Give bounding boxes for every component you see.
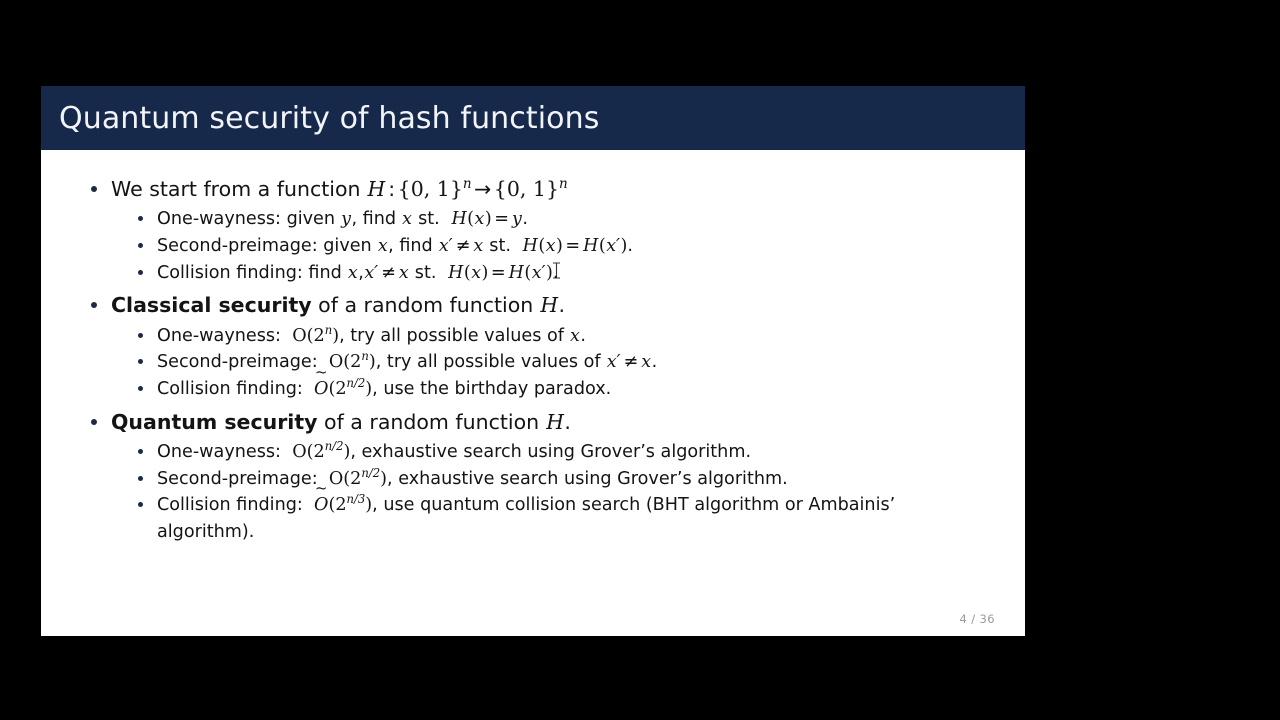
period-5: .: [580, 326, 586, 346]
bullet-definitions: We start from a function H:{0, 1}n→{0, 1…: [81, 174, 995, 286]
bullet-one-wayness-def: One-wayness: given y, find x st. H(x)=y.: [129, 206, 995, 233]
bullet-text-classical: Classical security of a random function …: [111, 290, 995, 321]
math-var-x-4: x: [347, 263, 358, 283]
bullet-quantum-second-preimage: Second-preimage: O(2n/2), exhaustive sea…: [129, 466, 995, 493]
text-quantum-collision: , use quantum collision search (BHT algo…: [372, 495, 895, 515]
page-title: Quantum security of hash functions: [41, 101, 600, 136]
math-big-o-3: O: [292, 442, 306, 462]
video-conference-panel: [1025, 0, 1280, 720]
bullet-list-level1: We start from a function H:{0, 1}n→{0, 1…: [81, 174, 995, 546]
math-H-quantum: H: [546, 410, 565, 434]
math-var-x-2: x: [377, 236, 388, 256]
math-exp-n-2: n: [559, 176, 568, 192]
math-fn-H: H: [367, 177, 386, 201]
paren-close-7: ): [369, 352, 376, 372]
math-var-x-1: x: [402, 209, 413, 229]
math-tilde-o-2: O: [314, 492, 328, 519]
math-eq-2: =: [563, 236, 583, 256]
math-var-x-5: x: [398, 263, 409, 283]
comma-1: ,: [351, 209, 357, 229]
text-of-random-function-1: of a random function: [318, 293, 533, 317]
bullet-quantum-security: Quantum security of a random function H.…: [81, 407, 995, 546]
text-try-all-2: , try all possible values of: [376, 352, 601, 372]
heading-classical-security: Classical security: [111, 293, 312, 317]
math-base-2-5: 2: [350, 469, 361, 489]
bullet-list-level2-definitions: One-wayness: given y, find x st. H(x)=y.…: [111, 206, 995, 286]
bullet-classical-collision: Collision finding: O(2n/2), use the birt…: [129, 376, 995, 403]
label-find-3: find: [308, 263, 341, 283]
math-eq-3: =: [488, 263, 508, 283]
math-xp-arg-2: x′: [531, 263, 546, 283]
text-try-all-1: , try all possible values of: [339, 326, 564, 346]
math-base-2-6: 2: [335, 495, 346, 515]
math-eq-1: =: [492, 209, 512, 229]
math-exp-n-half-3: n/2: [361, 466, 380, 480]
math-big-o-1: O: [292, 326, 306, 346]
slide-content: We start from a function H:{0, 1}n→{0, 1…: [41, 150, 1025, 636]
math-var-xp-1: x′: [438, 236, 453, 256]
period-3: .: [553, 263, 559, 283]
period-2: .: [627, 236, 633, 256]
math-x-arg-1: x: [474, 209, 485, 229]
math-neq-2: ≠: [379, 263, 399, 283]
bullet-list-level2-quantum: One-wayness: O(2n/2), exhaustive search …: [111, 439, 995, 546]
paren-close-5: ): [546, 263, 553, 283]
bullet-second-preimage-def: Second-preimage: given x, find x′≠x st. …: [129, 233, 995, 260]
math-neq-1: ≠: [453, 236, 473, 256]
math-H-classical: H: [540, 293, 559, 317]
comma-3: ,: [358, 263, 364, 283]
math-H-5: H: [508, 263, 524, 283]
paren-open-6: (: [307, 326, 314, 346]
paren-close-1: ): [485, 209, 492, 229]
math-var-xp-2: x′: [364, 263, 379, 283]
label-second-preimage-c: Second-preimage:: [157, 352, 318, 372]
math-exp-n-third: n/3: [347, 492, 366, 506]
math-big-o-4: O: [329, 469, 343, 489]
math-base-2-4: 2: [314, 442, 325, 462]
math-x-arg-3: x: [471, 263, 482, 283]
math-var-x-7: x: [641, 352, 652, 372]
bullet-list-level2-classical: One-wayness: O(2n), try all possible val…: [111, 323, 995, 403]
math-H-4: H: [448, 263, 464, 283]
heading-quantum-security: Quantum security: [111, 410, 318, 434]
paren-close-2: ): [556, 236, 563, 256]
bullet-quantum-collision: Collision finding: O(2n/3), use quantum …: [129, 492, 995, 545]
math-x-arg-2: x: [545, 236, 556, 256]
text-of-random-function-2: of a random function: [324, 410, 539, 434]
math-H-2: H: [522, 236, 538, 256]
math-set-binary-1: {0, 1}: [398, 177, 463, 201]
math-var-x-3: x: [473, 236, 484, 256]
math-base-2-2: 2: [350, 352, 361, 372]
label-find-2: find: [399, 236, 432, 256]
period-6: .: [652, 352, 658, 372]
math-H-1: H: [451, 209, 467, 229]
bullet-collision-finding-def: Collision finding: find x,x′≠x st. H(x)=…: [129, 260, 995, 287]
math-xp-arg-1: x′: [606, 236, 621, 256]
label-one-wayness-c: One-wayness:: [157, 326, 281, 346]
period-1: .: [522, 209, 528, 229]
math-base-2-1: 2: [314, 326, 325, 346]
label-collision-finding-q: Collision finding:: [157, 495, 303, 515]
label-given: given: [287, 209, 335, 229]
text-grover-1: , exhaustive search using Grover’s algor…: [350, 442, 751, 462]
bullet-quantum-one-wayness: One-wayness: O(2n/2), exhaustive search …: [129, 439, 995, 466]
label-collision-finding: Collision finding:: [157, 263, 303, 283]
text-grover-2: , exhaustive search using Grover’s algor…: [387, 469, 788, 489]
label-second-preimage-q: Second-preimage:: [157, 469, 318, 489]
label-collision-finding-c: Collision finding:: [157, 379, 303, 399]
math-colon: :: [386, 177, 398, 201]
label-given-2: given: [323, 236, 371, 256]
text-algorithm-cont: algorithm).: [157, 522, 254, 542]
period-7: .: [564, 410, 571, 434]
math-neq-3: ≠: [621, 352, 641, 372]
paren-close-10: ): [380, 469, 387, 489]
math-base-2-3: 2: [335, 379, 346, 399]
math-var-xp-3: x′: [606, 352, 621, 372]
comma-2: ,: [388, 236, 394, 256]
math-exp-n-half-1: n/2: [347, 376, 366, 390]
math-y-rhs: y: [511, 209, 522, 229]
text-we-start-from: We start from a function: [111, 177, 361, 201]
math-exp-n-1: n: [463, 176, 472, 192]
paren-open-4: (: [464, 263, 471, 283]
paren-open-1: (: [467, 209, 474, 229]
period-4: .: [559, 293, 566, 317]
presentation-slide: Quantum security of hash functions We st…: [41, 86, 1025, 636]
label-st-2: st.: [489, 236, 511, 256]
bullet-classical-one-wayness: One-wayness: O(2n), try all possible val…: [129, 323, 995, 350]
math-exp-n-half-2: n/2: [325, 439, 344, 453]
slide-title-bar: Quantum security of hash functions: [41, 86, 1025, 150]
label-one-wayness: One-wayness:: [157, 209, 281, 229]
label-st-1: st.: [418, 209, 440, 229]
label-st-3: st.: [415, 263, 437, 283]
label-one-wayness-q: One-wayness:: [157, 442, 281, 462]
math-var-x-6: x: [570, 326, 581, 346]
math-set-binary-2: {0, 1}: [494, 177, 559, 201]
label-second-preimage: Second-preimage:: [157, 236, 318, 256]
text-use-birthday: , use the birthday paradox.: [372, 379, 611, 399]
math-var-y: y: [341, 209, 352, 229]
math-arrow: →: [472, 177, 494, 201]
math-H-3: H: [583, 236, 599, 256]
math-big-o-2: O: [329, 352, 343, 372]
bullet-text-quantum: Quantum security of a random function H.: [111, 407, 995, 438]
bullet-classical-second-preimage: Second-preimage: O(2n), try all possible…: [129, 349, 995, 376]
math-exp-n-4: n: [361, 349, 368, 363]
paren-open-3: (: [599, 236, 606, 256]
page-number: 4 / 36: [959, 612, 995, 626]
bullet-classical-security: Classical security of a random function …: [81, 290, 995, 402]
bullet-text-definitions: We start from a function H:{0, 1}n→{0, 1…: [111, 174, 995, 205]
paren-open-9: (: [307, 442, 314, 462]
math-tilde-o-1: O: [314, 376, 328, 403]
label-find: find: [363, 209, 396, 229]
